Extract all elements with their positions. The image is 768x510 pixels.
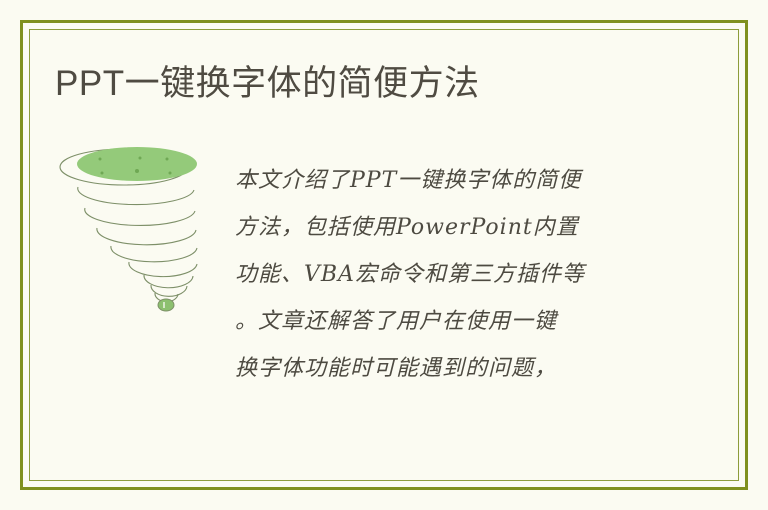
body-line: 方法，包括使用PowerPoint内置 bbox=[235, 204, 695, 251]
tornado-tip-blob bbox=[158, 299, 174, 311]
article-card: PPT一键换字体的简便方法 bbox=[0, 0, 768, 510]
body-line: 功能、VBA宏命令和第三方插件等 bbox=[235, 251, 695, 298]
tornado-coil-3 bbox=[97, 228, 196, 245]
tornado-coil-4 bbox=[111, 246, 197, 262]
tornado-coil-1 bbox=[78, 187, 194, 205]
page-title: PPT一键换字体的简便方法 bbox=[55, 62, 480, 106]
tornado-illustration bbox=[45, 145, 220, 320]
tornado-cap-fill bbox=[77, 147, 197, 181]
tornado-coil-2 bbox=[85, 208, 195, 225]
body-line: 。文章还解答了用户在使用一键 bbox=[235, 298, 695, 345]
article-content: 本文介绍了PPT一键换字体的简便 方法，包括使用PowerPoint内置 功能、… bbox=[45, 145, 725, 405]
body-line: 换字体功能时可能遇到的问题， bbox=[235, 345, 695, 392]
body-line: 本文介绍了PPT一键换字体的简便 bbox=[235, 157, 695, 204]
tornado-coil-5 bbox=[129, 262, 197, 277]
article-body: 本文介绍了PPT一键换字体的简便 方法，包括使用PowerPoint内置 功能、… bbox=[235, 157, 695, 392]
